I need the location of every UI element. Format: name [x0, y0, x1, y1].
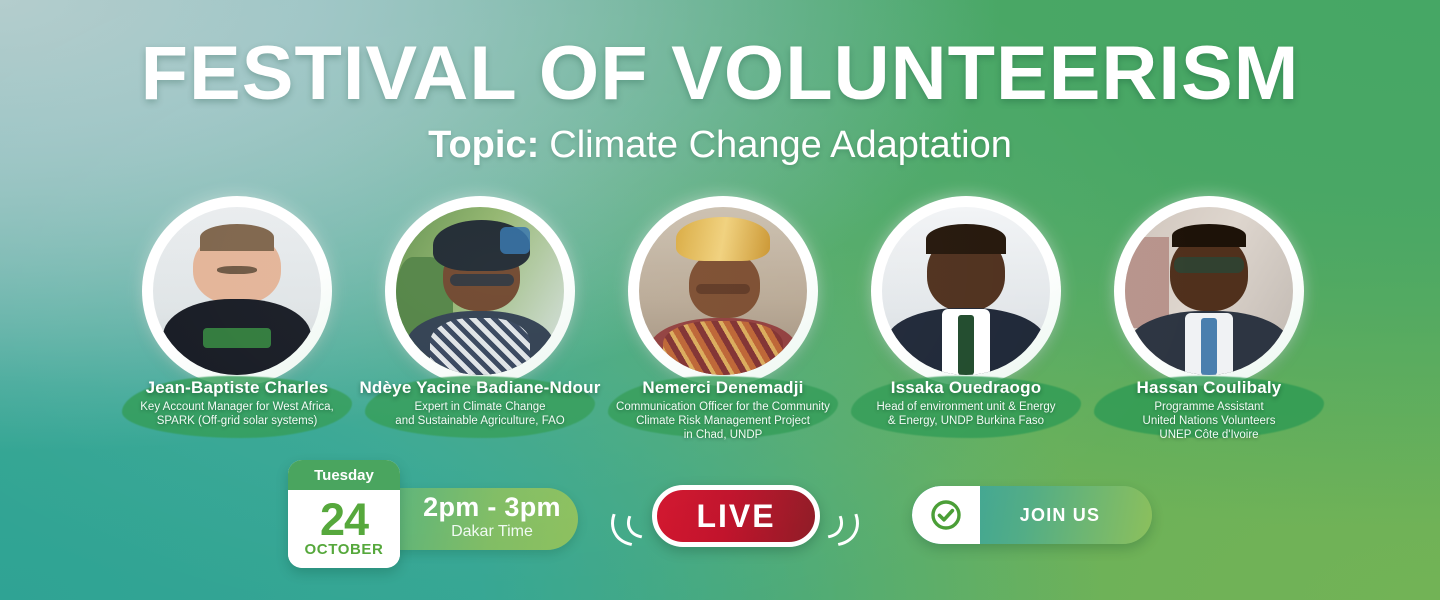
date-card-body: 24 OCTOBER [288, 490, 400, 568]
live-label: LIVE [696, 500, 775, 532]
check-circle-icon [929, 498, 963, 532]
speaker-name: Nemerci Denemadji [602, 378, 844, 398]
topic-line: Topic:Climate Change Adaptation [0, 125, 1440, 167]
speaker-name: Jean-Baptiste Charles [116, 378, 358, 398]
portrait-photo-5 [1125, 207, 1293, 375]
speaker-role-line: SPARK (Off-grid solar systems) [116, 414, 358, 428]
date-weekday: Tuesday [288, 460, 400, 490]
page-title: FESTIVAL OF VOLUNTEERISM [0, 36, 1440, 112]
date-card: Tuesday 24 OCTOBER [288, 460, 400, 568]
speaker-role-line: Programme Assistant [1088, 400, 1330, 414]
speaker-card: Hassan Coulibaly Programme Assistant Uni… [1090, 196, 1328, 451]
avatar [385, 196, 575, 386]
speaker-name: Hassan Coulibaly [1088, 378, 1330, 398]
speaker-role: Expert in Climate Change and Sustainable… [359, 400, 601, 429]
live-pill: LIVE [652, 485, 820, 547]
time-zone: Dakar Time [451, 521, 533, 543]
speaker-role-line: Head of environment unit & Energy [845, 400, 1087, 414]
speaker-role: Programme Assistant United Nations Volun… [1088, 400, 1330, 443]
date-time-group: 2pm - 3pm Dakar Time Tuesday 24 OCTOBER [288, 455, 578, 575]
date-month: OCTOBER [305, 540, 384, 560]
avatar [142, 196, 332, 386]
speaker-role-line: and Sustainable Agriculture, FAO [359, 414, 601, 428]
topic-value: Climate Change Adaptation [549, 124, 1012, 166]
speaker-role-line: Climate Risk Management Project [602, 414, 844, 428]
speaker-role-line: & Energy, UNDP Burkina Faso [845, 414, 1087, 428]
event-details-bar: 2pm - 3pm Dakar Time Tuesday 24 OCTOBER … [0, 455, 1440, 585]
speaker-role-line: UNEP Côte d'Ivoire [1088, 428, 1330, 442]
event-banner: FESTIVAL OF VOLUNTEERISM Topic:Climate C… [0, 0, 1440, 600]
avatar [1114, 196, 1304, 386]
speaker-card: Nemerci Denemadji Communication Officer … [604, 196, 842, 451]
portrait-photo-4 [882, 207, 1050, 375]
join-icon-box [912, 486, 980, 544]
live-badge: LIVE [612, 475, 858, 559]
speaker-role-line: Key Account Manager for West Africa, [116, 400, 358, 414]
speaker-role: Key Account Manager for West Africa, SPA… [116, 400, 358, 429]
time-range: 2pm - 3pm [423, 494, 561, 521]
portrait-photo-3 [639, 207, 807, 375]
speaker-role-line: in Chad, UNDP [602, 428, 844, 442]
speaker-name: Ndèye Yacine Badiane-Ndour [359, 378, 601, 398]
speaker-nameblock: Ndèye Yacine Badiane-Ndour Expert in Cli… [355, 372, 605, 436]
join-us-label: JOIN US [980, 505, 1152, 526]
speaker-role-line: Communication Officer for the Community [602, 400, 844, 414]
speaker-card: Jean-Baptiste Charles Key Account Manage… [118, 196, 356, 436]
avatar [871, 196, 1061, 386]
speaker-role: Communication Officer for the Community … [602, 400, 844, 443]
speaker-name: Issaka Ouedraogo [845, 378, 1087, 398]
topic-label: Topic: [428, 124, 539, 166]
join-us-button[interactable]: JOIN US [912, 486, 1152, 544]
speaker-card: Ndèye Yacine Badiane-Ndour Expert in Cli… [361, 196, 599, 436]
speaker-role-line: Expert in Climate Change [359, 400, 601, 414]
speaker-role-line: United Nations Volunteers [1088, 414, 1330, 428]
date-day: 24 [320, 500, 368, 540]
speaker-nameblock: Hassan Coulibaly Programme Assistant Uni… [1084, 372, 1334, 451]
speaker-nameblock: Jean-Baptiste Charles Key Account Manage… [112, 372, 362, 436]
speaker-nameblock: Nemerci Denemadji Communication Officer … [598, 372, 848, 451]
speaker-nameblock: Issaka Ouedraogo Head of environment uni… [841, 372, 1091, 436]
portrait-photo-1 [153, 207, 321, 375]
speakers-list: Jean-Baptiste Charles Key Account Manage… [118, 196, 1328, 436]
portrait-photo-2 [396, 207, 564, 375]
speaker-card: Issaka Ouedraogo Head of environment uni… [847, 196, 1085, 436]
speaker-role: Head of environment unit & Energy & Ener… [845, 400, 1087, 429]
avatar [628, 196, 818, 386]
